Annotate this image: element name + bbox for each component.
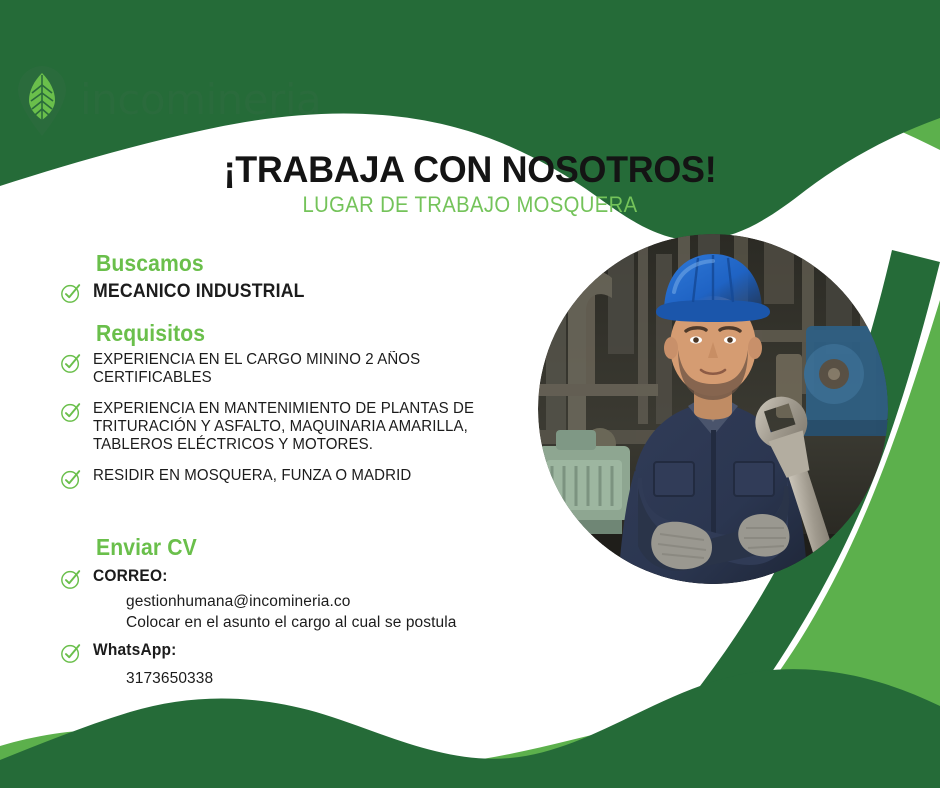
check-circle-icon [60,642,82,664]
whatsapp-number[interactable]: 3173650338 [126,669,530,689]
worker-photo-illustration [538,234,888,584]
page-subtitle: LUGAR DE TRABAJO MOSQUERA [38,192,903,218]
job-poster: incomineria ¡TRABAJA CON NOSOTROS! LUGAR… [0,0,940,788]
check-circle-icon [60,468,82,490]
list-item: MECANICO INDUSTRIAL [60,281,530,304]
list-item: RESIDIR EN MOSQUERA, FUNZA O MADRID [60,467,530,490]
list-item: EXPERIENCIA EN EL CARGO MININO 2 AÑOS CE… [60,351,530,386]
email-address[interactable]: gestionhumana@incomineria.co [126,592,530,612]
bottom-wave-light [0,705,940,788]
section-heading-requisitos: Requisitos [96,320,495,347]
check-circle-icon [60,568,82,590]
title-block: ¡TRABAJA CON NOSOTROS! LUGAR DE TRABAJO … [0,150,940,218]
correo-label: CORREO: [93,567,168,586]
worker-photo [538,234,888,584]
list-item-label: EXPERIENCIA EN MANTENIMIENTO DE PLANTAS … [93,400,517,453]
section-heading-buscamos: Buscamos [96,250,495,277]
brand-wordmark: incomineria [80,79,321,121]
whatsapp-label: WhatsApp: [93,641,177,660]
check-circle-icon [60,282,82,304]
brand-logo: incomineria [14,62,321,138]
list-item: EXPERIENCIA EN MANTENIMIENTO DE PLANTAS … [60,400,530,453]
contact-email-row: CORREO: [60,567,530,590]
leaf-pin-icon [14,63,70,137]
list-item-label: RESIDIR EN MOSQUERA, FUNZA O MADRID [93,467,411,485]
content-column: Buscamos MECANICO INDUSTRIAL Requisitos … [60,250,530,690]
email-subject-note: Colocar en el asunto el cargo al cual se… [126,613,530,633]
check-circle-icon [60,401,82,423]
list-item-label: EXPERIENCIA EN EL CARGO MININO 2 AÑOS CE… [93,351,517,386]
list-item-label: MECANICO INDUSTRIAL [93,281,305,303]
contact-whatsapp-row: WhatsApp: [60,641,530,664]
page-title: ¡TRABAJA CON NOSOTROS! [14,150,926,190]
check-circle-icon [60,352,82,374]
section-heading-enviar-cv: Enviar CV [96,534,495,561]
